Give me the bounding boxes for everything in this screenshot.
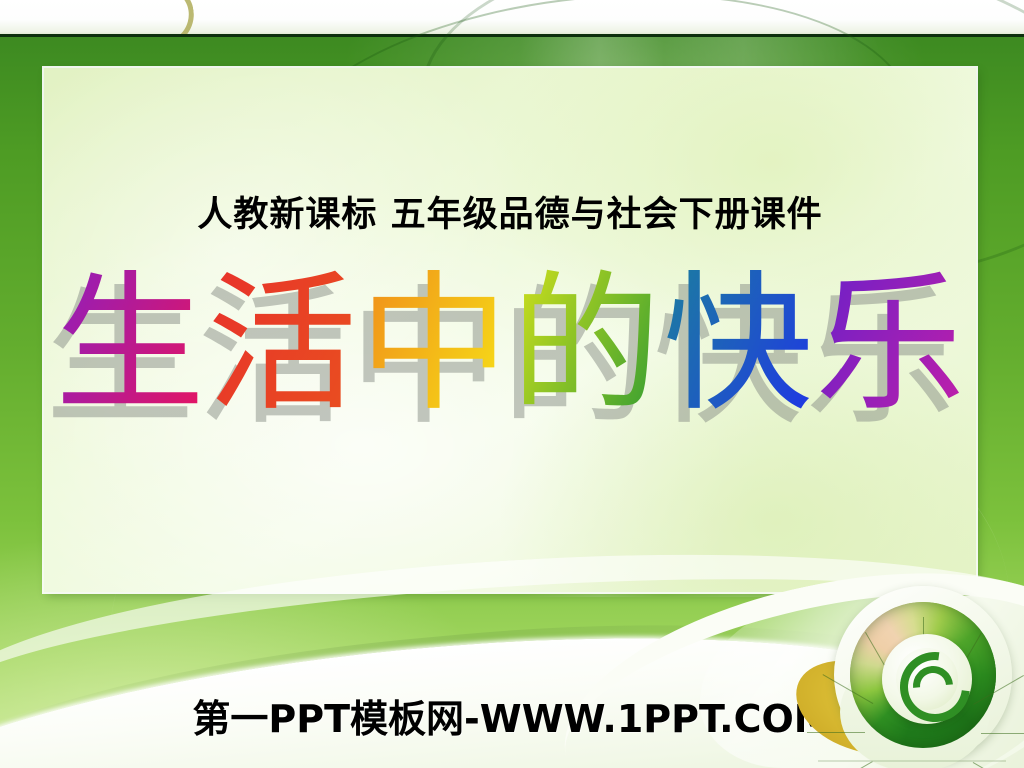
logo-shell-segment xyxy=(822,761,873,768)
slide-subtitle: 人教新课标 五年级品德与社会下册课件 xyxy=(44,186,976,237)
spiral-shell-logo xyxy=(818,592,1006,768)
title-char-4: 快 xyxy=(663,264,813,426)
logo-bottom-rule xyxy=(818,760,1006,762)
slide-title: 生活中的快乐 xyxy=(44,264,976,426)
title-char-1: 活 xyxy=(207,264,357,426)
logo-shell-segment xyxy=(807,732,865,733)
logo-shell-segment xyxy=(981,733,1024,734)
title-char-0: 生 xyxy=(55,264,205,426)
title-char-5: 乐 xyxy=(815,264,965,426)
title-char-3: 的 xyxy=(511,264,661,426)
content-panel: 人教新课标 五年级品德与社会下册课件 生活中的快乐 xyxy=(44,68,976,592)
title-char-2: 中 xyxy=(359,264,509,426)
presentation-slide: 人教新课标 五年级品德与社会下册课件 生活中的快乐 第一PPT模板网-WWW.1… xyxy=(0,0,1024,768)
content-panel-surface: 人教新课标 五年级品德与社会下册课件 生活中的快乐 xyxy=(44,68,976,592)
